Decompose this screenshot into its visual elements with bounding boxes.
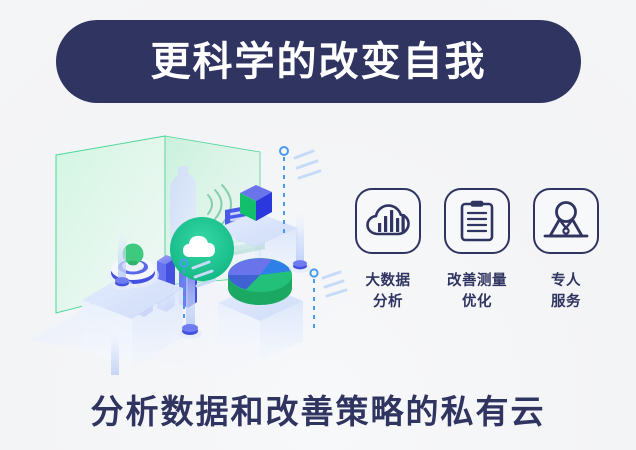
hero-illustration [20, 125, 350, 375]
pie-chart-3d [228, 258, 292, 305]
clipboard-badge [444, 188, 510, 254]
feature-item-measurement[interactable]: 改善测量 优化 [441, 188, 513, 328]
feature-item-big-data[interactable]: 大数据 分析 [352, 188, 424, 328]
feature-item-support[interactable]: 专人 服务 [530, 188, 602, 328]
cloud-bar-chart-badge [355, 188, 421, 254]
dash-decoration [295, 151, 320, 178]
tagline: 分析数据和改善策略的私有云 [0, 385, 636, 433]
feature-label: 改善测量 优化 [447, 271, 507, 312]
feature-list: 大数据 分析 改善测量 优化 [352, 188, 602, 328]
headline-pill: 更科学的改变自我 [56, 20, 581, 103]
support-person-icon [542, 199, 590, 243]
dash-decoration [323, 272, 346, 296]
cloud-bar-chart-icon [365, 201, 411, 241]
dashed-marker-line [280, 147, 288, 233]
promo-banner: 更科学的改变自我 [0, 0, 636, 450]
page-title: 更科学的改变自我 [151, 42, 487, 82]
support-person-badge [533, 188, 599, 254]
feature-label: 专人 服务 [551, 271, 581, 312]
feature-label: 大数据 分析 [366, 271, 411, 312]
clipboard-lines-icon [458, 199, 496, 243]
